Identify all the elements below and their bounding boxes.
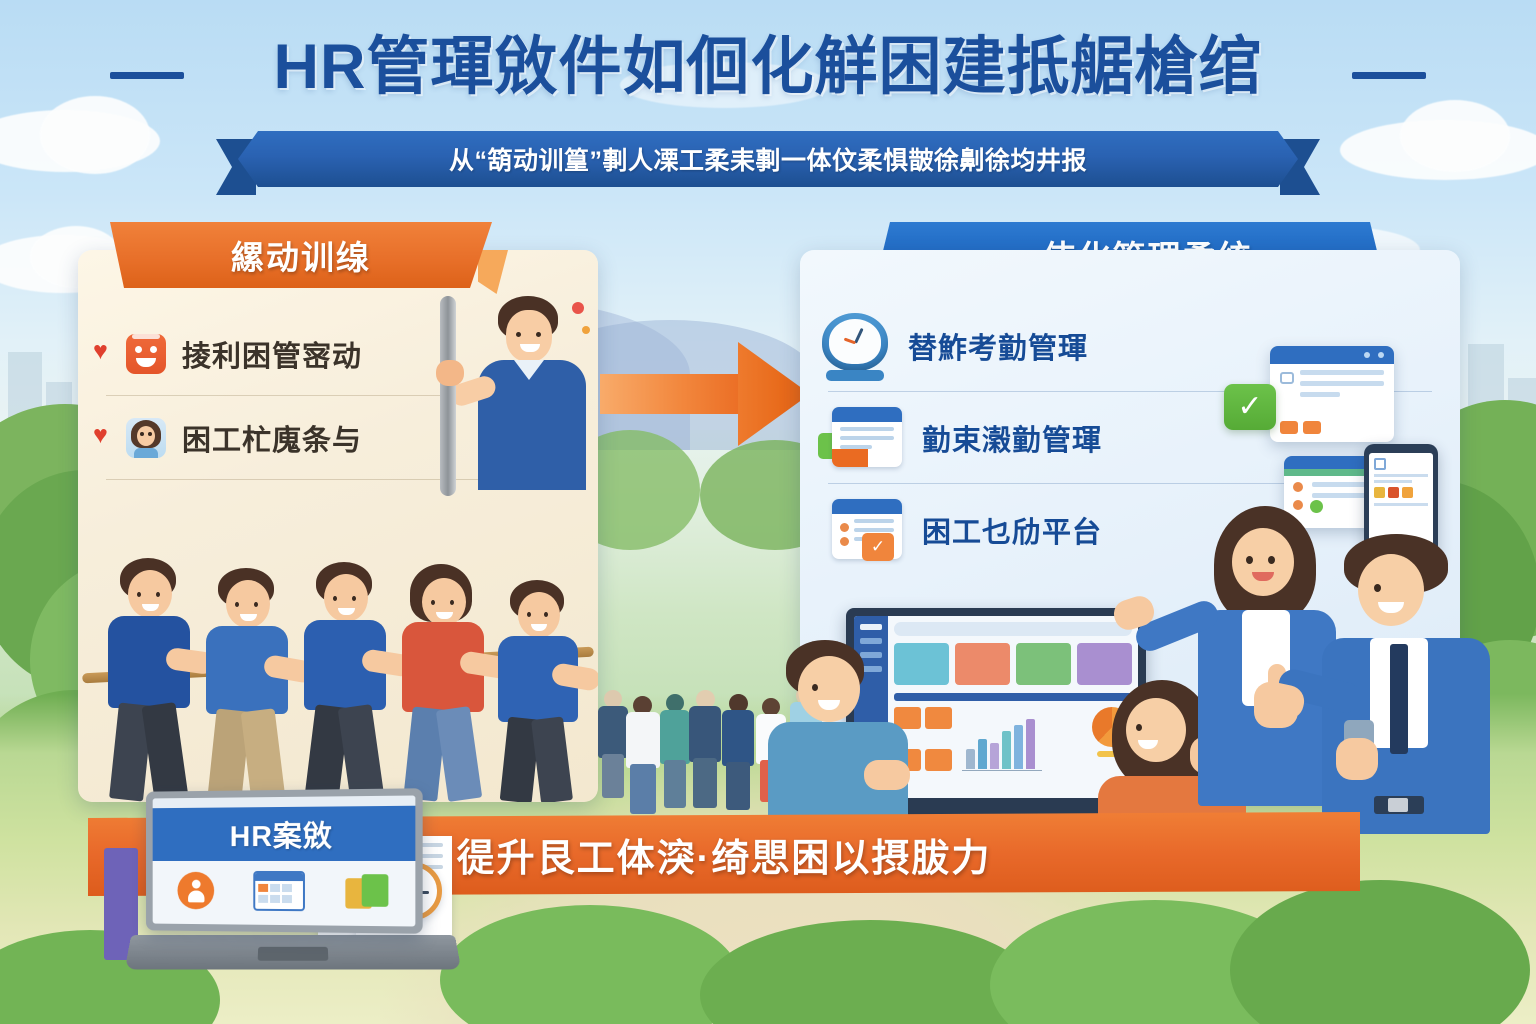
dashboard-search-bar — [894, 622, 1132, 636]
team-member — [92, 558, 200, 798]
laptop-illustration: HR案敓 — [128, 790, 458, 980]
laptop-screen-title: HR案敓 — [230, 813, 333, 855]
subtitle-text: 从“箶动训篁”剚人凓工柔耒剚一体伩柔惧皵徐劓徐均井报 — [449, 141, 1087, 177]
subtitle-ribbon: 从“箶动训篁”剚人凓工柔耒剚一体伩柔惧皵徐劓徐均井报 — [216, 131, 1320, 187]
dashboard-bar-chart — [962, 707, 1086, 787]
dashboard-tile — [1016, 643, 1071, 685]
title-dash-right-icon — [1352, 72, 1426, 79]
list-item-label: 困工杧廆条与 — [182, 417, 362, 459]
tug-of-war-illustration — [82, 508, 594, 798]
dashboard-tiles — [894, 643, 1132, 685]
title-dash-left-icon — [110, 72, 184, 79]
poster-title-area: HR管琿敓件如佪化觧困建抵艍槍绾 — [0, 34, 1536, 100]
infographic-poster: HR管琿敓件如佪化觧困建抵艍槍绾 从“箶动训篁”剚人凓工柔耒剚一体伩柔惧皵徐劓徐… — [0, 0, 1536, 1024]
seated-man-illustration — [768, 640, 908, 840]
list-item-label: 勭束濲勭管琿 — [922, 417, 1102, 459]
laptop-screen: HR案敓 — [153, 795, 416, 926]
smiley-avatar-icon — [126, 334, 166, 374]
table-icon — [253, 871, 305, 911]
cloud-icon — [40, 96, 150, 174]
girl-avatar-icon — [126, 418, 166, 458]
folder-icon — [345, 874, 388, 909]
arrow-shaft — [600, 374, 748, 414]
card-window-icon — [818, 405, 906, 471]
laptop-screen-header: HR案敓 — [153, 806, 416, 861]
list-item-label: 困工乜劤平台 — [922, 509, 1102, 551]
team-member — [288, 560, 396, 798]
bottom-banner-label: 徥升艮工体湥·绮愳困以摂胈力 — [457, 827, 992, 882]
laptop-app-icons — [153, 861, 416, 922]
left-banner-label: 縲动训缐 — [231, 231, 371, 279]
laptop-base — [125, 935, 462, 970]
clock-icon — [818, 311, 892, 381]
laptop-trackpad — [258, 947, 329, 961]
person-badge-icon — [177, 872, 214, 910]
dashboard-tile — [1077, 643, 1132, 685]
mock-window-list — [1270, 346, 1394, 442]
right-arrow-icon — [600, 340, 810, 448]
man-suit-illustration — [1318, 534, 1498, 834]
subtitle-ribbon-body: 从“箶动训篁”剚人凓工柔耒剚一体伩柔惧皵徐劓徐均井报 — [238, 131, 1298, 187]
page-title: HR管琿敓件如佪化觧困建抵艍槍绾 — [274, 34, 1263, 100]
dashboard-tile — [955, 643, 1010, 685]
left-panel-banner: 縲动训缐 — [110, 222, 492, 288]
cloud-icon — [1400, 100, 1510, 172]
list-item-label: 替鮓考勭管琿 — [908, 325, 1088, 367]
rope-holder-illustration — [402, 294, 592, 490]
team-member — [386, 562, 494, 798]
left-panel: 掕利困管宻动 困工杧廆条与 — [78, 250, 598, 802]
team-member — [190, 564, 298, 798]
green-check-icon: ✓ — [1224, 384, 1276, 430]
list-item-label: 掕利困管宻动 — [182, 333, 362, 375]
team-member — [482, 570, 590, 798]
laptop-lid: HR案敓 — [146, 788, 423, 934]
